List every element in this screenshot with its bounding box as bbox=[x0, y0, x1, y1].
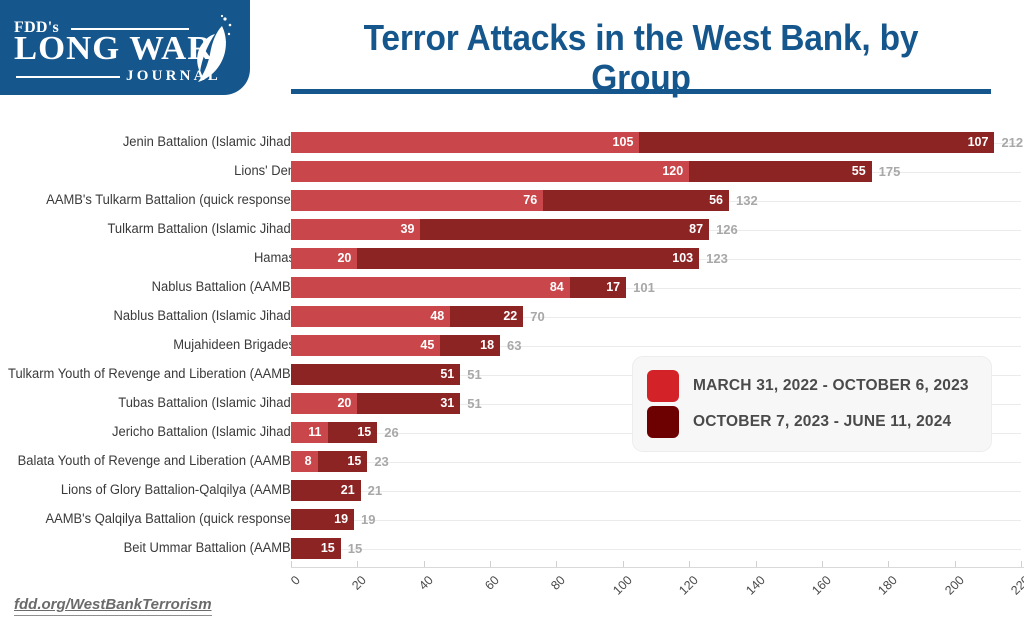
chart-row: Beit Ummar Battalion (AAMB)1515 bbox=[0, 538, 1024, 559]
bar-segment-after[interactable]: 107 bbox=[639, 132, 994, 153]
bar-segment-before[interactable]: 11 bbox=[291, 422, 328, 443]
stacked-bar[interactable]: 4822 bbox=[291, 306, 523, 327]
stacked-bar[interactable]: 4518 bbox=[291, 335, 500, 356]
segment-value-label: 56 bbox=[709, 190, 723, 211]
bar-segment-before[interactable]: 39 bbox=[291, 219, 420, 240]
legend-item-before[interactable]: MARCH 31, 2022 - OCTOBER 6, 2023 bbox=[647, 369, 977, 403]
chart-row: Balata Youth of Revenge and Liberation (… bbox=[0, 451, 1024, 472]
chart-plot-area: Jenin Battalion (Islamic Jihad)105107212… bbox=[0, 118, 1024, 568]
category-label: Lions' Den bbox=[0, 163, 295, 178]
x-axis-tick-label: 140 bbox=[714, 573, 768, 627]
chart-row: AAMB's Qalqilya Battalion (quick respons… bbox=[0, 509, 1024, 530]
segment-value-label: 8 bbox=[305, 451, 312, 472]
segment-value-label: 84 bbox=[550, 277, 564, 298]
stacked-bar[interactable]: 21 bbox=[291, 480, 361, 501]
source-link[interactable]: fdd.org/WestBankTerrorism bbox=[14, 596, 212, 616]
bar-segment-after[interactable]: 51 bbox=[291, 364, 460, 385]
bar-total-label: 101 bbox=[633, 277, 655, 298]
bar-total-label: 51 bbox=[467, 364, 481, 385]
bar-segment-before[interactable]: 84 bbox=[291, 277, 570, 298]
stacked-bar[interactable]: 1115 bbox=[291, 422, 377, 443]
x-axis-tick-label: 180 bbox=[846, 573, 900, 627]
chart-row: Mujahideen Brigades451863 bbox=[0, 335, 1024, 356]
bar-segment-before[interactable]: 48 bbox=[291, 306, 450, 327]
page-title: Terror Attacks in the West Bank, by Grou… bbox=[316, 18, 967, 98]
bar-total-label: 23 bbox=[374, 451, 388, 472]
segment-value-label: 21 bbox=[341, 480, 355, 501]
x-axis-tick-label: 100 bbox=[581, 573, 635, 627]
bar-total-label: 126 bbox=[716, 219, 738, 240]
segment-value-label: 120 bbox=[662, 161, 683, 182]
legend-label-after: OCTOBER 7, 2023 - JUNE 11, 2024 bbox=[693, 413, 951, 431]
category-label: AAMB's Tulkarm Battalion (quick response… bbox=[0, 192, 295, 207]
chart-row: Nablus Battalion (AAMB)8417101 bbox=[0, 277, 1024, 298]
segment-value-label: 87 bbox=[689, 219, 703, 240]
legend-swatch-icon-after bbox=[647, 406, 679, 438]
category-label: Jericho Battalion (Islamic Jihad) bbox=[0, 424, 295, 439]
stacked-bar[interactable]: 7656 bbox=[291, 190, 729, 211]
segment-value-label: 22 bbox=[503, 306, 517, 327]
segment-value-label: 15 bbox=[347, 451, 361, 472]
stacked-bar[interactable]: 8417 bbox=[291, 277, 626, 298]
bar-segment-before[interactable]: 105 bbox=[291, 132, 639, 153]
bar-segment-before[interactable]: 120 bbox=[291, 161, 689, 182]
segment-value-label: 39 bbox=[401, 219, 415, 240]
category-label: Hamas bbox=[0, 250, 295, 265]
bar-total-label: 212 bbox=[1001, 132, 1023, 153]
legend-item-after[interactable]: OCTOBER 7, 2023 - JUNE 11, 2024 bbox=[647, 405, 977, 439]
segment-value-label: 107 bbox=[968, 132, 989, 153]
x-axis-line bbox=[291, 567, 1024, 568]
stacked-bar[interactable]: 19 bbox=[291, 509, 354, 530]
category-label: Mujahideen Brigades bbox=[0, 337, 295, 352]
legend-label-before: MARCH 31, 2022 - OCTOBER 6, 2023 bbox=[693, 377, 969, 395]
stacked-bar[interactable]: 20103 bbox=[291, 248, 699, 269]
bar-total-label: 15 bbox=[348, 538, 362, 559]
x-axis-tick-label: 40 bbox=[382, 573, 436, 627]
bar-segment-after[interactable]: 103 bbox=[357, 248, 699, 269]
bar-segment-after[interactable]: 18 bbox=[440, 335, 500, 356]
segment-value-label: 15 bbox=[321, 538, 335, 559]
bar-segment-after[interactable]: 15 bbox=[318, 451, 368, 472]
category-label: AAMB's Qalqilya Battalion (quick respons… bbox=[0, 511, 295, 526]
title-underline-rule bbox=[291, 89, 991, 94]
bar-segment-after[interactable]: 15 bbox=[291, 538, 341, 559]
stacked-bar[interactable]: 2031 bbox=[291, 393, 460, 414]
bar-total-label: 123 bbox=[706, 248, 728, 269]
stacked-bar[interactable]: 51 bbox=[291, 364, 460, 385]
bar-segment-after[interactable]: 31 bbox=[357, 393, 460, 414]
segment-value-label: 55 bbox=[852, 161, 866, 182]
bar-segment-before[interactable]: 20 bbox=[291, 393, 357, 414]
segment-value-label: 76 bbox=[523, 190, 537, 211]
stacked-bar[interactable]: 15 bbox=[291, 538, 341, 559]
category-label: Balata Youth of Revenge and Liberation (… bbox=[0, 453, 295, 468]
bar-total-label: 26 bbox=[384, 422, 398, 443]
x-axis-tick-label: 120 bbox=[647, 573, 701, 627]
segment-value-label: 19 bbox=[334, 509, 348, 530]
segment-value-label: 20 bbox=[337, 393, 351, 414]
segment-value-label: 31 bbox=[440, 393, 454, 414]
bar-segment-after[interactable]: 17 bbox=[570, 277, 626, 298]
x-axis-tick-label: 20 bbox=[316, 573, 370, 627]
bar-total-label: 19 bbox=[361, 509, 375, 530]
bar-segment-after[interactable]: 15 bbox=[328, 422, 378, 443]
bar-total-label: 21 bbox=[368, 480, 382, 501]
chart-page: FDD's LONG WAR JOURNAL Terror Attacks in… bbox=[0, 0, 1024, 630]
segment-value-label: 18 bbox=[480, 335, 494, 356]
chart-row: AAMB's Tulkarm Battalion (quick response… bbox=[0, 190, 1024, 211]
bar-segment-before[interactable]: 8 bbox=[291, 451, 318, 472]
segment-value-label: 20 bbox=[337, 248, 351, 269]
x-axis-tick-label: 60 bbox=[448, 573, 502, 627]
category-label: Jenin Battalion (Islamic Jihad) bbox=[0, 134, 295, 149]
flame-leaf-icon bbox=[182, 12, 234, 86]
logo-bottom-rule bbox=[16, 76, 120, 78]
chart-row: Tulkarm Battalion (Islamic Jihad)3987126 bbox=[0, 219, 1024, 240]
bar-total-label: 70 bbox=[530, 306, 544, 327]
stacked-bar[interactable]: 3987 bbox=[291, 219, 709, 240]
bar-segment-after[interactable]: 56 bbox=[543, 190, 729, 211]
bar-segment-before[interactable]: 45 bbox=[291, 335, 440, 356]
x-axis-tick-label: 220 bbox=[979, 573, 1024, 627]
bar-segment-after[interactable]: 21 bbox=[291, 480, 361, 501]
bar-total-label: 51 bbox=[467, 393, 481, 414]
category-label: Nablus Battalion (Islamic Jihad) bbox=[0, 308, 295, 323]
x-axis-tick-label: 80 bbox=[515, 573, 569, 627]
x-axis-tick-label: 160 bbox=[780, 573, 834, 627]
segment-value-label: 105 bbox=[613, 132, 634, 153]
chart-row: Jenin Battalion (Islamic Jihad)105107212 bbox=[0, 132, 1024, 153]
bar-total-label: 132 bbox=[736, 190, 758, 211]
segment-value-label: 11 bbox=[308, 422, 321, 443]
segment-value-label: 45 bbox=[420, 335, 434, 356]
segment-value-label: 15 bbox=[357, 422, 371, 443]
chart-legend: MARCH 31, 2022 - OCTOBER 6, 2023 OCTOBER… bbox=[632, 356, 992, 452]
legend-swatch-icon-before bbox=[647, 370, 679, 402]
category-label: Tulkarm Battalion (Islamic Jihad) bbox=[0, 221, 295, 236]
category-label: Lions of Glory Battalion-Qalqilya (AAMB) bbox=[0, 482, 295, 497]
bar-segment-after[interactable]: 55 bbox=[689, 161, 872, 182]
fdd-long-war-journal-logo: FDD's LONG WAR JOURNAL bbox=[0, 0, 250, 95]
category-label: Tulkarm Youth of Revenge and Liberation … bbox=[0, 366, 295, 381]
segment-value-label: 17 bbox=[606, 277, 620, 298]
bar-total-label: 63 bbox=[507, 335, 521, 356]
bar-segment-after[interactable]: 19 bbox=[291, 509, 354, 530]
bar-segment-before[interactable]: 76 bbox=[291, 190, 543, 211]
stacked-bar[interactable]: 12055 bbox=[291, 161, 872, 182]
segment-value-label: 51 bbox=[440, 364, 454, 385]
bar-segment-before[interactable]: 20 bbox=[291, 248, 357, 269]
stacked-bar[interactable]: 105107 bbox=[291, 132, 994, 153]
bar-segment-after[interactable]: 87 bbox=[420, 219, 709, 240]
x-axis-tick-label: 200 bbox=[913, 573, 967, 627]
chart-row: Lions' Den12055175 bbox=[0, 161, 1024, 182]
x-axis-tick-label: 0 bbox=[249, 573, 303, 627]
category-label: Nablus Battalion (AAMB) bbox=[0, 279, 295, 294]
stacked-bar[interactable]: 815 bbox=[291, 451, 367, 472]
chart-row: Hamas20103123 bbox=[0, 248, 1024, 269]
category-label: Tubas Battalion (Islamic Jihad) bbox=[0, 395, 295, 410]
category-label: Beit Ummar Battalion (AAMB) bbox=[0, 540, 295, 555]
chart-row: Lions of Glory Battalion-Qalqilya (AAMB)… bbox=[0, 480, 1024, 501]
segment-value-label: 48 bbox=[430, 306, 444, 327]
bar-total-label: 175 bbox=[879, 161, 901, 182]
bar-segment-after[interactable]: 22 bbox=[450, 306, 523, 327]
segment-value-label: 103 bbox=[672, 248, 693, 269]
chart-row: Nablus Battalion (Islamic Jihad)482270 bbox=[0, 306, 1024, 327]
